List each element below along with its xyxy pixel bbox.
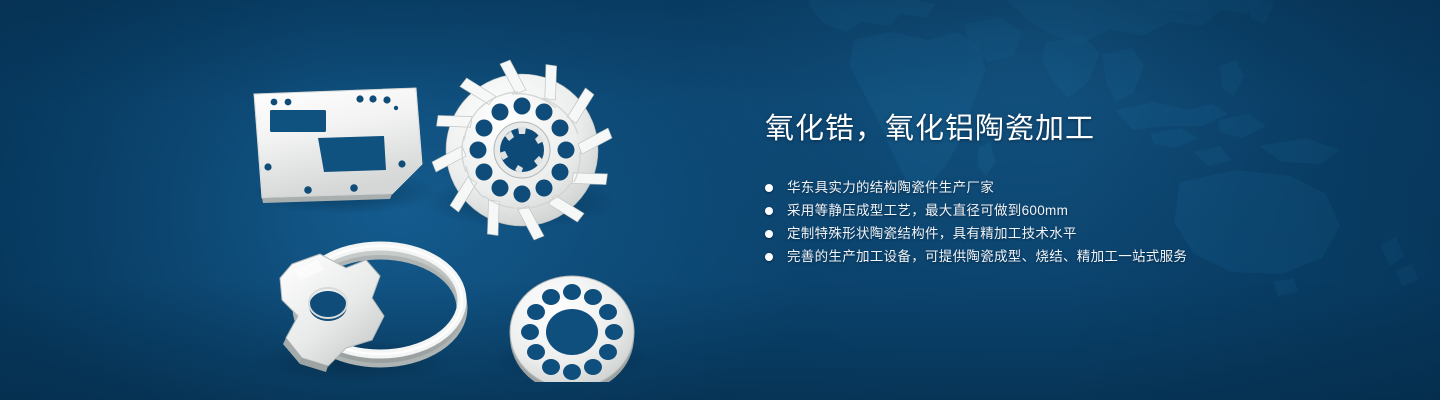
- list-item: 完善的生产加工设备，可提供陶瓷成型、烧结、精加工一站式服务: [765, 249, 1385, 265]
- list-item: 定制特殊形状陶瓷结构件，具有精加工技术水平: [765, 226, 1385, 242]
- banner-copy: 氧化锆，氧化铝陶瓷加工 华东具实力的结构陶瓷件生产厂家 采用等静压成型工艺，最大…: [765, 112, 1385, 272]
- feature-list: 华东具实力的结构陶瓷件生产厂家 采用等静压成型工艺，最大直径可做到600mm 定…: [765, 180, 1385, 265]
- feature-text: 采用等静压成型工艺，最大直径可做到600mm: [787, 203, 1068, 219]
- page-title: 氧化锆，氧化铝陶瓷加工: [765, 112, 1385, 146]
- feature-text: 完善的生产加工设备，可提供陶瓷成型、烧结、精加工一站式服务: [787, 249, 1187, 265]
- list-item: 采用等静压成型工艺，最大直径可做到600mm: [765, 203, 1385, 219]
- feature-text: 华东具实力的结构陶瓷件生产厂家: [787, 180, 994, 196]
- ceramic-hole-disc-shape: [510, 276, 634, 382]
- bullet-dot-icon: [765, 207, 773, 215]
- ceramic-hero-banner: 氧化锆，氧化铝陶瓷加工 华东具实力的结构陶瓷件生产厂家 采用等静压成型工艺，最大…: [0, 0, 1440, 400]
- feature-text: 定制特殊形状陶瓷结构件，具有精加工技术水平: [787, 226, 1077, 242]
- bullet-dot-icon: [765, 230, 773, 238]
- list-item: 华东具实力的结构陶瓷件生产厂家: [765, 180, 1385, 196]
- ceramic-products-image: [232, 42, 712, 382]
- bullet-dot-icon: [765, 253, 773, 261]
- ceramic-plate-shape: [254, 88, 422, 203]
- bullet-dot-icon: [765, 184, 773, 192]
